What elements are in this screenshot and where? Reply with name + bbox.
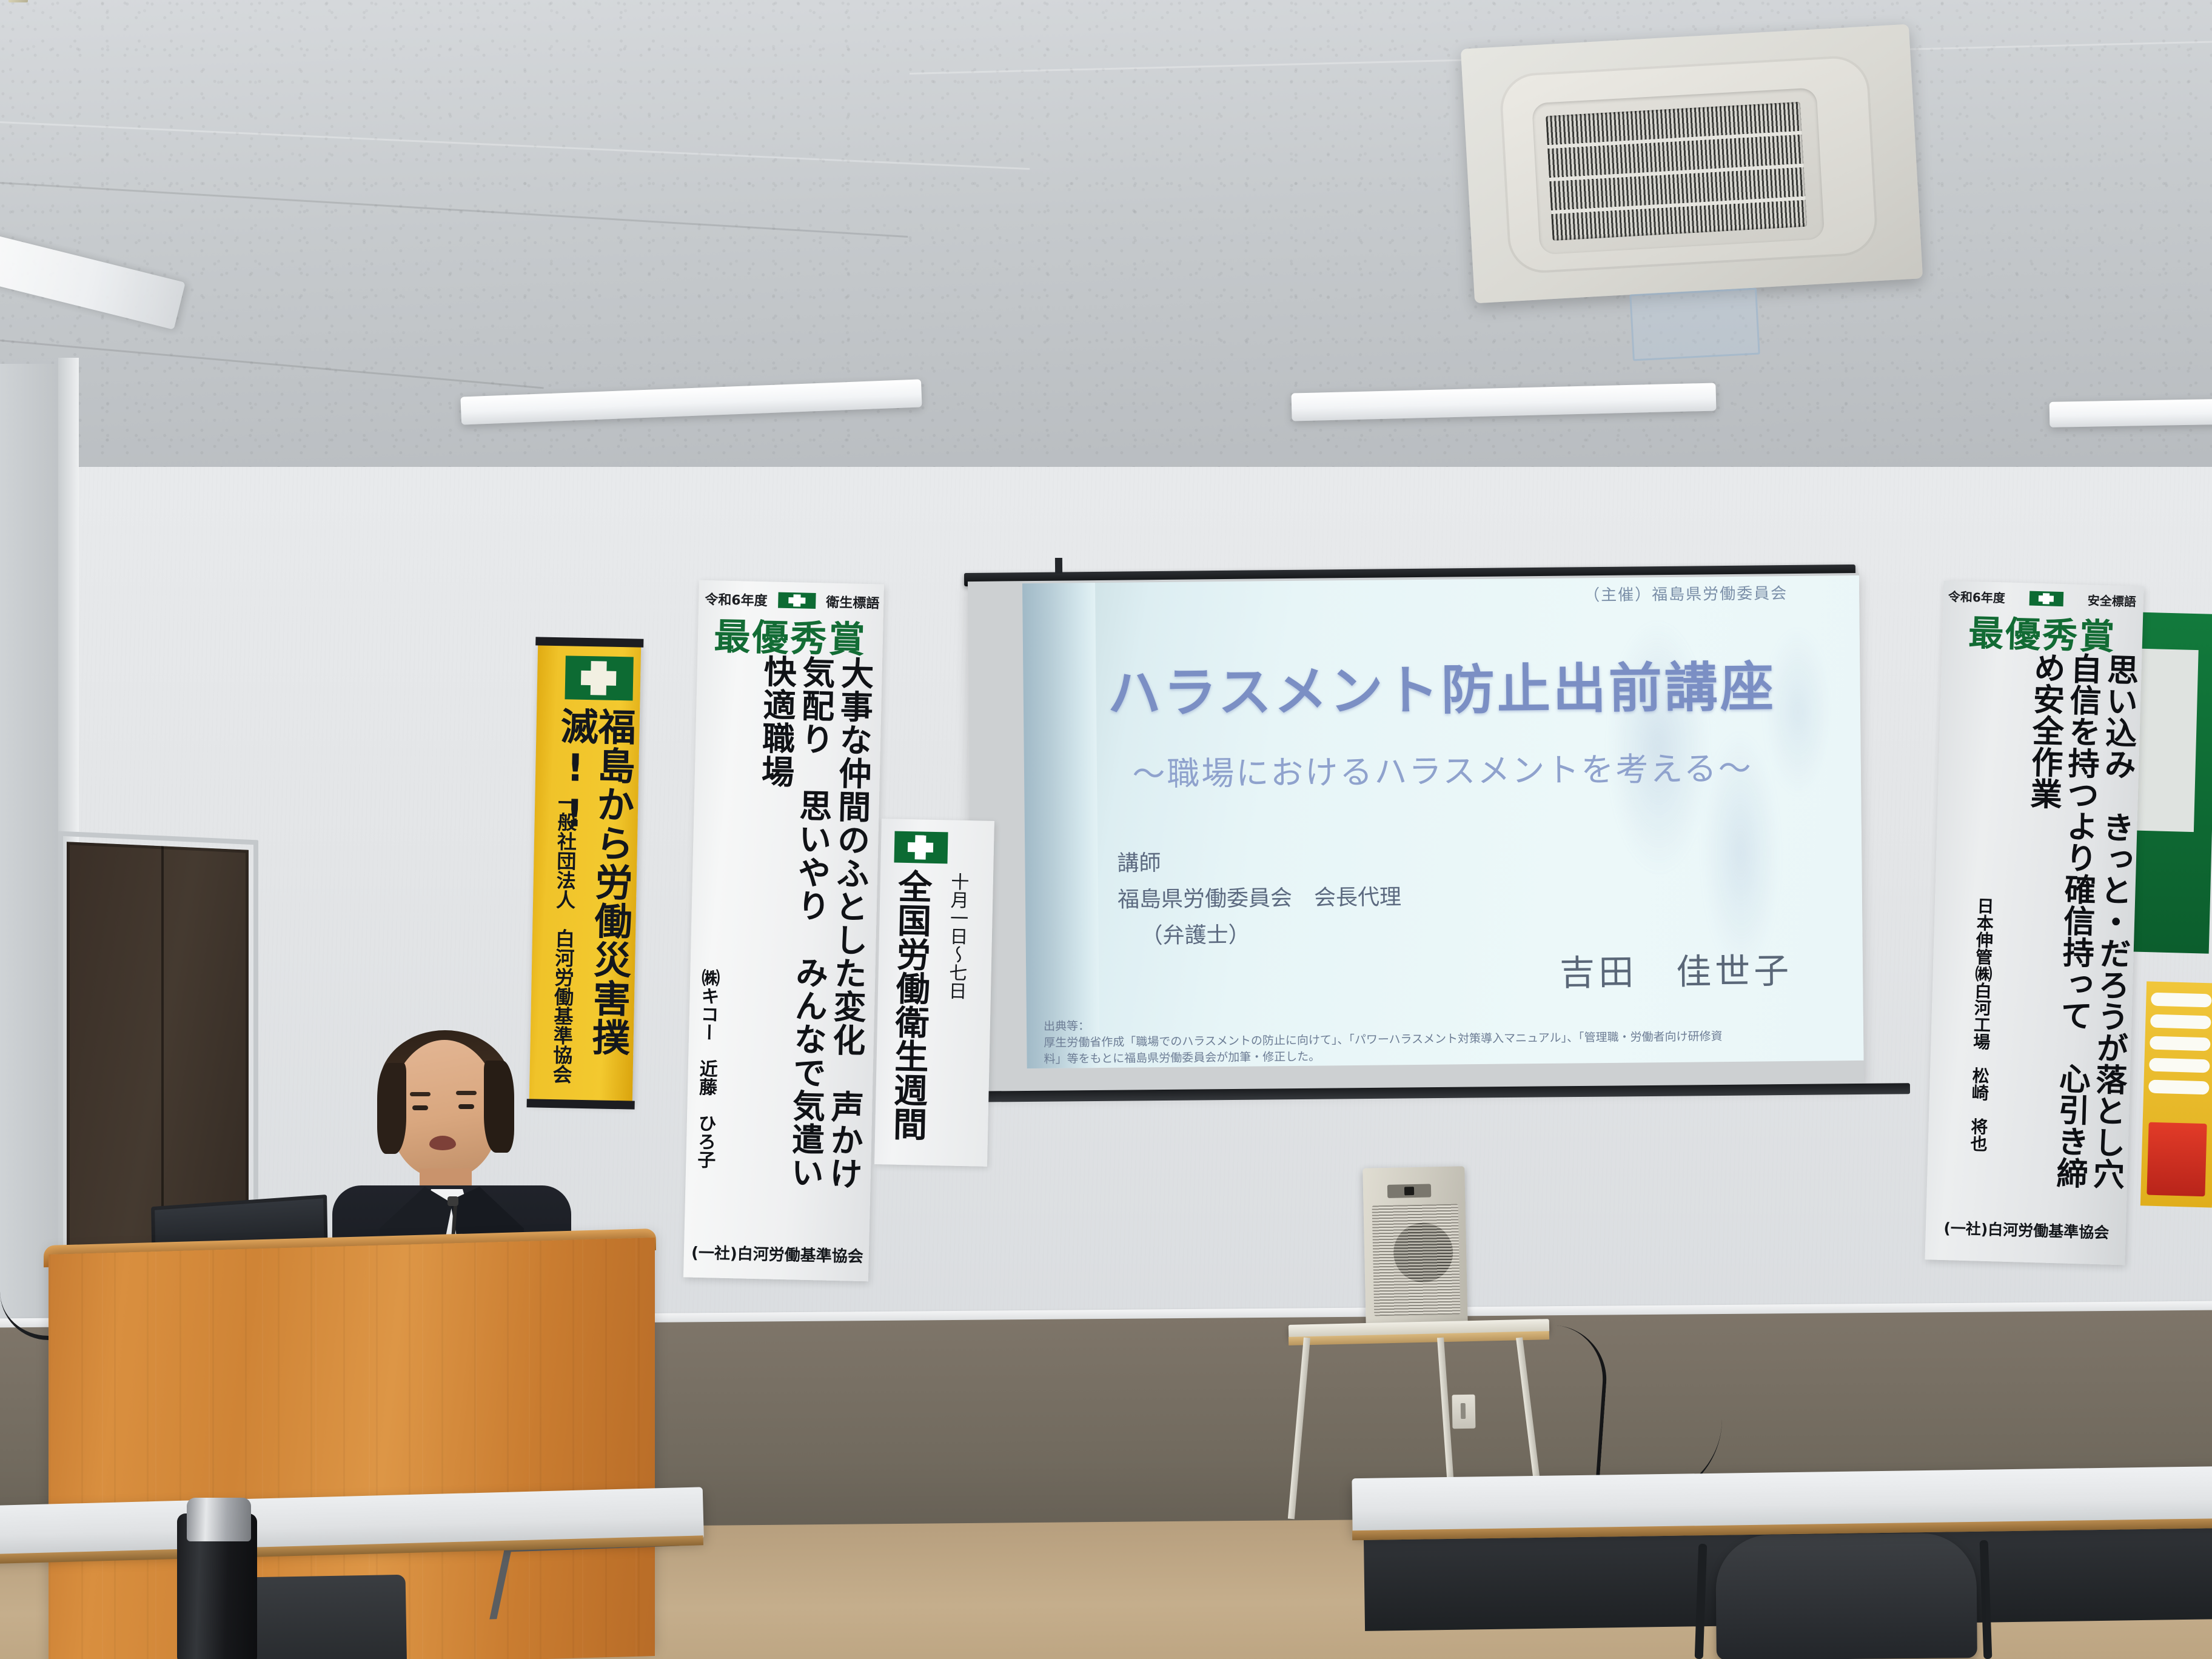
poster-row xyxy=(2150,1036,2211,1051)
screen-hook xyxy=(1055,558,1062,574)
presenter-hair-side xyxy=(377,1063,406,1154)
ac-bezel xyxy=(1498,55,1879,275)
lapel-microphone-head xyxy=(447,1196,458,1206)
banner-hygiene-category: 衛生標語 xyxy=(826,591,880,612)
green-cross-icon xyxy=(565,655,633,700)
banner-yellow-main-text: 福島から労働災害撲滅!! xyxy=(575,707,632,1090)
banner-hygiene-week-text: 全国労働衛生週間 xyxy=(890,869,930,1148)
banner-hygiene-week: 全国労働衛生週間 十月一日〜七日 xyxy=(874,819,994,1167)
slide-lecturer-qualification: （弁護士） xyxy=(1141,916,1401,950)
presenter-eyebrow xyxy=(410,1092,431,1096)
slide-source-note: 出典等： 厚生労働省作成「職場でのハラスメントの防止に向けて」、「パワーハラスメ… xyxy=(1044,1011,1854,1068)
table-frame xyxy=(489,1540,681,1619)
ac-grille xyxy=(1546,102,1807,241)
banner-safety-year: 令和6年度 xyxy=(1948,587,2006,606)
presenter-mouth xyxy=(429,1136,456,1150)
thermos-cap xyxy=(187,1498,251,1541)
audio-speaker-icon xyxy=(1362,1166,1467,1327)
banner-hygiene-week-dates: 十月一日〜七日 xyxy=(944,872,967,1067)
slide-lecturer-name: 吉田 佳世子 xyxy=(1560,942,1793,996)
slide-subtitle: ～職場におけるハラスメントを考える～ xyxy=(1024,740,1862,796)
banner-safety-footer: (一社)白河労働基準協会 xyxy=(1929,1216,2123,1243)
banner-safety-slogan: 令和6年度 安全標語 最優秀賞 思い込み きっと・だろうが落とし穴 自信を持つよ… xyxy=(1925,581,2143,1265)
banner-safety-author: 日本伸管㈱白河工場 松崎 将也 xyxy=(1968,897,1994,1164)
green-cross-icon xyxy=(778,592,816,609)
speaker-cone xyxy=(1393,1222,1453,1283)
poster-row xyxy=(2150,1014,2211,1030)
banner-safety-category: 安全標語 xyxy=(2088,591,2137,609)
banner-hygiene-slogan-text: 大事な仲間のふとした変化 声かけ 気配り 思いやり みんなで気遣い快適職場 xyxy=(746,654,874,1196)
banner-top-cap xyxy=(535,637,643,647)
slide-lecturer-label: 講師 xyxy=(1117,843,1401,877)
presenter-eye xyxy=(412,1105,428,1110)
ceiling-light-fixture xyxy=(2049,398,2212,427)
speaker-top-slot xyxy=(1387,1184,1431,1198)
ac-inner-panel xyxy=(1532,87,1825,255)
slide-host-line: （主催）福島県労働委員会 xyxy=(1584,581,1788,605)
poster-row xyxy=(2151,993,2212,1008)
banner-hygiene-author: ㈱キコー 近藤 ひろ子 xyxy=(693,968,719,1212)
slide-title: ハラスメント防止出前講座 xyxy=(1023,643,1860,728)
speaker-grille xyxy=(1372,1204,1461,1316)
ceiling-vent-panel xyxy=(1629,288,1760,361)
banner-hygiene-slogan: 令和6年度 衛生標語 最優秀賞 大事な仲間のふとした変化 声かけ 気配り 思いや… xyxy=(683,580,884,1282)
presentation-slide: （主催）福島県労働委員会 ハラスメント防止出前講座 ～職場におけるハラスメントを… xyxy=(1022,575,1864,1068)
slide-lecturer-block: 講師 福島県労働委員会 会長代理 （弁護士） xyxy=(1117,843,1402,950)
seminar-room-photo: （主催）福島県労働委員会 ハラスメント防止出前講座 ～職場におけるハラスメントを… xyxy=(0,0,2212,1659)
poster-accent-block xyxy=(2147,1122,2207,1197)
poster-row xyxy=(2148,1080,2210,1095)
power-outlet-icon xyxy=(1452,1395,1476,1429)
green-cross-icon xyxy=(2029,591,2064,606)
presenter-hair-side xyxy=(484,1061,514,1153)
bottle-cap xyxy=(8,0,28,2)
projection-screen: （主催）福島県労働委員会 ハラスメント防止出前講座 ～職場におけるハラスメントを… xyxy=(968,573,1864,1094)
banner-hygiene-year: 令和6年度 xyxy=(705,589,768,609)
ceiling-cassette-ac-icon xyxy=(1461,24,1923,304)
presenter-eyebrow xyxy=(456,1091,477,1095)
slide-lecturer-organization: 福島県労働委員会 会長代理 xyxy=(1118,879,1401,913)
poster-row xyxy=(2149,1058,2210,1073)
green-cross-icon xyxy=(894,831,948,864)
chair-backrest[interactable] xyxy=(1715,1533,1977,1659)
presenter-eye xyxy=(458,1104,474,1109)
banner-safety-slogan-text: 思い込み きっと・だろうが落とし穴 自信を持つより確信持って 心引き締め安全作業 xyxy=(2014,651,2139,1194)
banner-hygiene-footer: (一社)白河労働基準協会 xyxy=(688,1241,868,1267)
yellow-poster xyxy=(2140,981,2212,1207)
